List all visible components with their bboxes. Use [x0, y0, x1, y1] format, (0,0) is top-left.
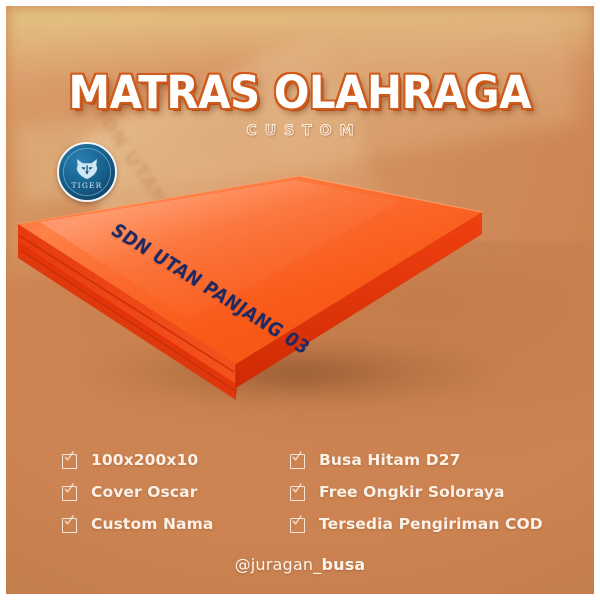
- list-item-label: Free Ongkir Soloraya: [319, 483, 505, 501]
- product-poster: SDN UTAN PANJANG 03 MATRAS OLAHRAGA CUST…: [0, 0, 600, 600]
- feature-list: 100x200x10 Cover Oscar Custom Nama: [62, 444, 564, 540]
- list-item: Cover Oscar: [62, 476, 290, 508]
- social-handle[interactable]: @juragan_busa: [0, 555, 600, 574]
- headline-block: MATRAS OLAHRAGA CUSTOM: [0, 66, 600, 139]
- list-item-label: Tersedia Pengiriman COD: [319, 515, 543, 533]
- page-title: MATRAS OLAHRAGA: [69, 66, 532, 119]
- social-handle-suffix: busa: [321, 555, 365, 574]
- list-item: Tersedia Pengiriman COD: [290, 508, 570, 540]
- list-item-label: 100x200x10: [91, 451, 198, 469]
- tiger-logo-badge[interactable]: TIGER: [57, 142, 117, 202]
- list-item-label: Custom Nama: [91, 515, 213, 533]
- feature-column-left: 100x200x10 Cover Oscar Custom Nama: [62, 444, 290, 540]
- page-subtitle: CUSTOM: [0, 123, 600, 139]
- list-item: 100x200x10: [62, 444, 290, 476]
- checkbox-checked-icon: [62, 484, 78, 500]
- checkbox-checked-icon: [62, 516, 78, 532]
- social-handle-prefix: @juragan_: [235, 555, 322, 574]
- checkbox-checked-icon: [290, 516, 306, 532]
- badge-ring: [63, 148, 111, 196]
- list-item: Busa Hitam D27: [290, 444, 570, 476]
- list-item-label: Cover Oscar: [91, 483, 197, 501]
- checkbox-checked-icon: [290, 484, 306, 500]
- list-item-label: Busa Hitam D27: [319, 451, 460, 469]
- checkbox-checked-icon: [62, 452, 78, 468]
- feature-column-right: Busa Hitam D27 Free Ongkir Soloraya Ters…: [290, 444, 570, 540]
- checkbox-checked-icon: [290, 452, 306, 468]
- list-item: Free Ongkir Soloraya: [290, 476, 570, 508]
- list-item: Custom Nama: [62, 508, 290, 540]
